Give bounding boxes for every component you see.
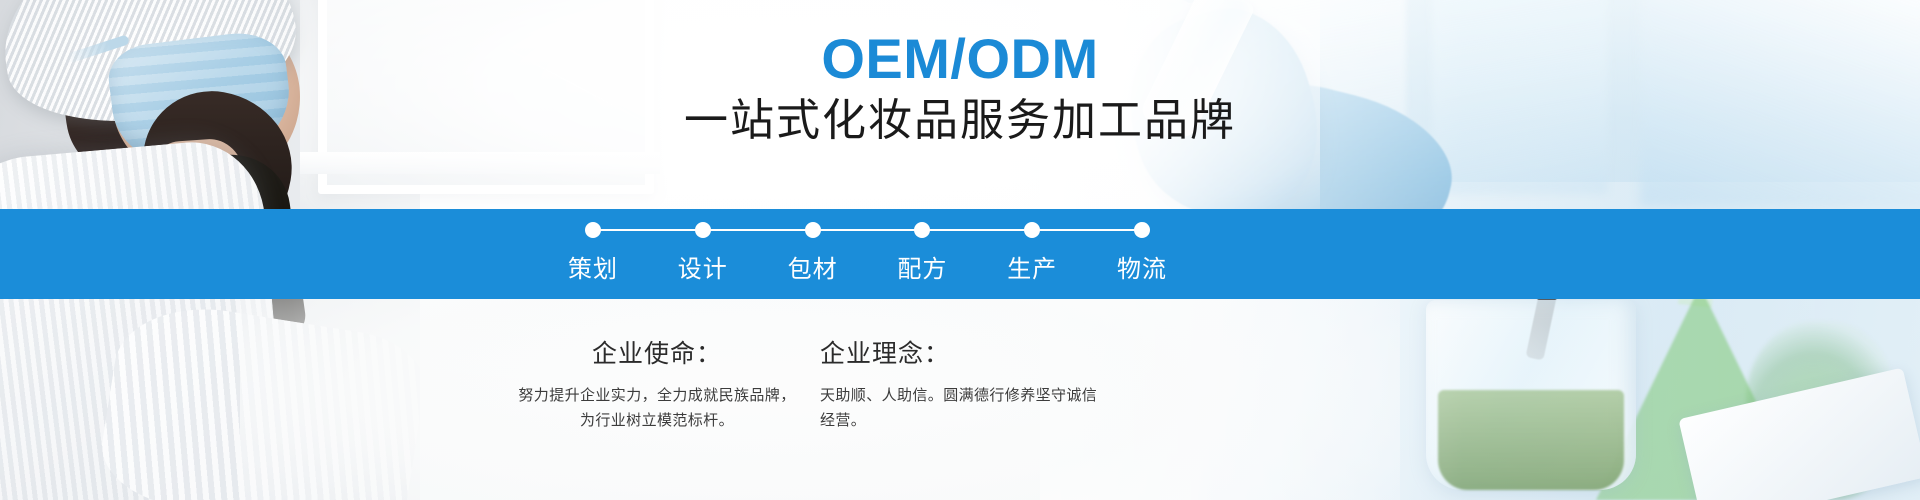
process-step-list: 策划设计包材配方生产物流 xyxy=(585,209,1150,299)
process-step-label: 配方 xyxy=(880,249,964,284)
process-dot-icon xyxy=(914,222,930,238)
process-step-label: 设计 xyxy=(661,249,745,284)
mission-block: 企业使命： 努力提升企业实力，全力成就民族品牌，为行业树立模范标杆。 xyxy=(512,334,802,434)
page-title: OEM/ODM xyxy=(0,28,1920,90)
process-dot-icon xyxy=(695,222,711,238)
philosophy-title: 企业理念： xyxy=(820,334,1110,370)
process-dot-icon xyxy=(1024,222,1040,238)
process-track-line xyxy=(593,229,1142,231)
philosophy-body: 天助顺、人助信。圆满德行修养坚守诚信经营。 xyxy=(820,384,1110,434)
oem-odm-banner: OEM/ODM 一站式化妆品服务加工品牌 策划设计包材配方生产物流 企业使命： … xyxy=(0,0,1920,500)
mission-title: 企业使命： xyxy=(512,334,802,370)
process-step-label: 物流 xyxy=(1100,249,1184,284)
mission-body: 努力提升企业实力，全力成就民族品牌，为行业树立模范标杆。 xyxy=(512,384,802,434)
process-dot-icon xyxy=(805,222,821,238)
process-dot-icon xyxy=(585,222,601,238)
philosophy-block: 企业理念： 天助顺、人助信。圆满德行修养坚守诚信经营。 xyxy=(820,334,1110,434)
process-step-label: 生产 xyxy=(990,249,1074,284)
process-dot-icon xyxy=(1134,222,1150,238)
page-subtitle: 一站式化妆品服务加工品牌 xyxy=(0,95,1920,148)
process-bar: 策划设计包材配方生产物流 xyxy=(0,209,1920,299)
process-step-label: 包材 xyxy=(771,249,855,284)
process-step-label: 策划 xyxy=(551,249,635,284)
